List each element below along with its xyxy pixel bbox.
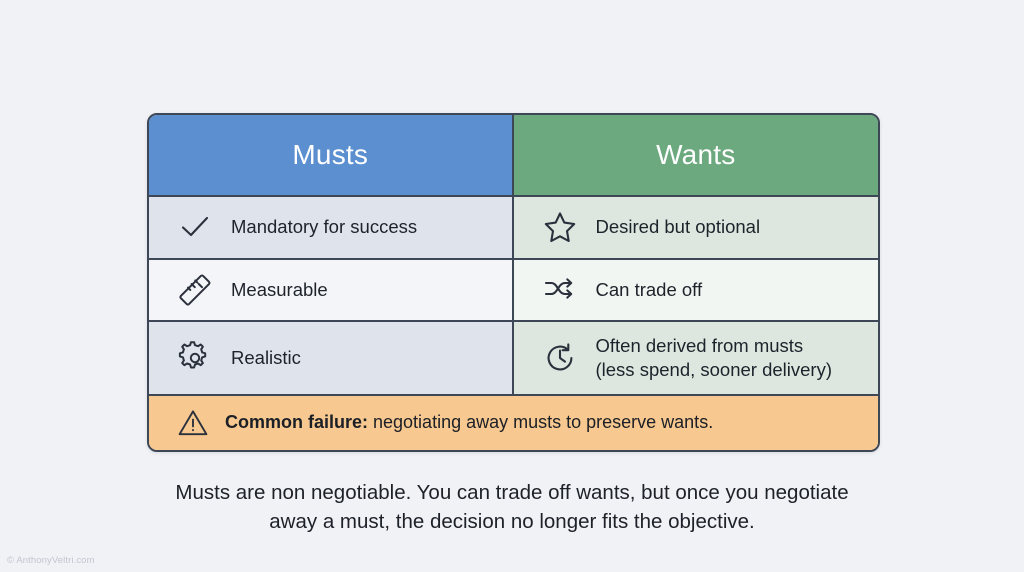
column-header-wants-label: Wants (656, 139, 735, 171)
common-failure-label: Common failure: (225, 412, 368, 432)
caption-line-1: Musts are non negotiable. You can trade … (132, 478, 892, 507)
cell-musts-1-label: Mandatory for success (231, 215, 417, 239)
table-header-row: Musts Wants (149, 115, 878, 195)
cell-wants-2: Can trade off (514, 260, 879, 321)
ruler-icon (177, 272, 213, 308)
cell-wants-3-line2: (less spend, sooner delivery) (596, 358, 833, 382)
clock-rotate-icon (542, 340, 578, 376)
cell-wants-3-label: Often derived from musts (less spend, so… (596, 334, 833, 381)
cell-wants-3-line1: Often derived from musts (596, 335, 804, 356)
common-failure-body: negotiating away musts to preserve wants… (368, 412, 713, 432)
gear-icon (177, 340, 213, 376)
cell-wants-1: Desired but optional (514, 197, 879, 258)
common-failure-banner: Common failure: negotiating away musts t… (149, 394, 878, 450)
cell-musts-2: Measurable (149, 260, 514, 321)
column-header-musts: Musts (149, 115, 514, 195)
caption-line-2: away a must, the decision no longer fits… (132, 507, 892, 536)
table-grid: Musts Wants Mandatory for success (149, 115, 878, 450)
comparison-table: Musts Wants Mandatory for success (147, 113, 880, 452)
cell-wants-3: Often derived from musts (less spend, so… (514, 322, 879, 394)
warning-triangle-icon (177, 407, 209, 439)
common-failure-text: Common failure: negotiating away musts t… (225, 412, 713, 433)
star-icon (542, 209, 578, 245)
table-row: Realistic Often derived from musts (less… (149, 320, 878, 394)
slide-canvas: Musts Wants Mandatory for success (0, 0, 1024, 572)
column-header-wants: Wants (514, 115, 879, 195)
cell-wants-1-label: Desired but optional (596, 215, 761, 239)
shuffle-icon (542, 272, 578, 308)
table-row: Measurable Can trade off (149, 258, 878, 321)
table-row: Mandatory for success Desired but option… (149, 195, 878, 258)
cell-wants-2-label: Can trade off (596, 278, 703, 302)
check-icon (177, 209, 213, 245)
cell-musts-1: Mandatory for success (149, 197, 514, 258)
cell-musts-3: Realistic (149, 322, 514, 394)
column-header-musts-label: Musts (292, 139, 368, 171)
watermark: © AnthonyVeltri.com (7, 555, 95, 566)
cell-musts-3-label: Realistic (231, 346, 301, 370)
caption: Musts are non negotiable. You can trade … (132, 478, 892, 536)
cell-musts-2-label: Measurable (231, 278, 328, 302)
